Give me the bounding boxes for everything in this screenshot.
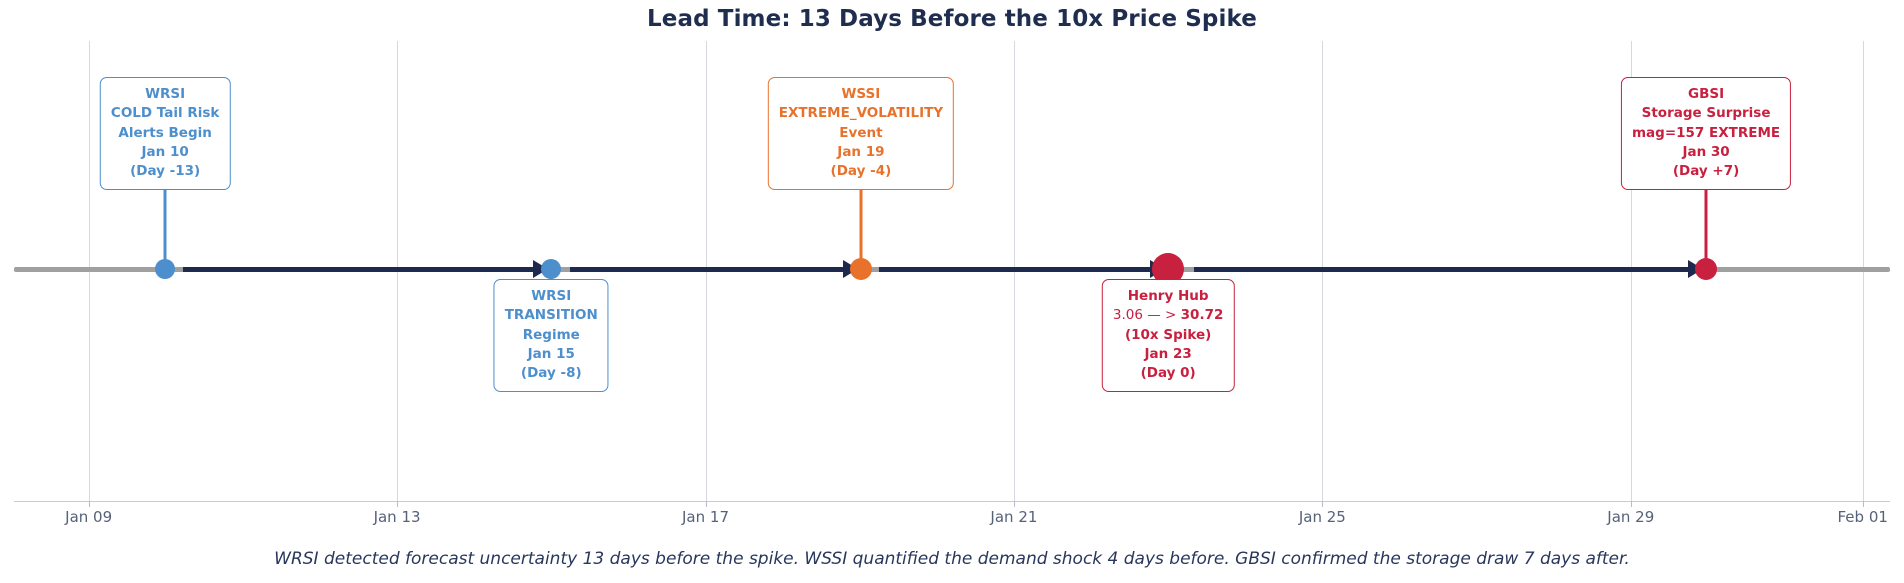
marker-wssi-extreme-volatility[interactable] bbox=[850, 258, 872, 280]
annotation-line-4: Jan 15 bbox=[505, 345, 598, 364]
arrow-segment-2 bbox=[570, 267, 844, 272]
tick-mark bbox=[1014, 501, 1015, 507]
annotation-line-4: Jan 19 bbox=[779, 143, 943, 162]
x-axis-line bbox=[14, 501, 1890, 502]
tick-label-1: Jan 09 bbox=[65, 508, 112, 526]
annotation-line-1: GBSI bbox=[1632, 85, 1780, 104]
annotation-line-5: (Day -8) bbox=[505, 364, 598, 383]
tick-mark bbox=[1863, 501, 1864, 507]
annotation-line-1: Henry Hub bbox=[1113, 287, 1223, 306]
arrow-segment-1 bbox=[183, 267, 534, 272]
tick-label-5: Jan 25 bbox=[1299, 508, 1346, 526]
annotation-line-2: COLD Tail Risk bbox=[111, 104, 219, 123]
tick-label-6: Jan 29 bbox=[1607, 508, 1654, 526]
annotation-henry-hub-price-spike[interactable]: Henry Hub3.06 — > 30.72(10x Spike)Jan 23… bbox=[1102, 279, 1234, 392]
tick-mark bbox=[397, 501, 398, 507]
annotation-price-change: 3.06 — > 30.72 bbox=[1113, 306, 1223, 325]
annotation-line-5: (Day 0) bbox=[1113, 364, 1223, 383]
stem-wrsi-cold-tail-risk bbox=[164, 190, 167, 263]
annotation-line-3: mag=157 EXTREME bbox=[1632, 124, 1780, 143]
annotation-line-1: WRSI bbox=[505, 287, 598, 306]
annotation-line-5: (Day -4) bbox=[779, 162, 943, 181]
annotation-line-5: (Day -13) bbox=[111, 162, 219, 181]
annotation-line-2: TRANSITION bbox=[505, 306, 598, 325]
tick-mark bbox=[1322, 501, 1323, 507]
chart-caption: WRSI detected forecast uncertainty 13 da… bbox=[0, 549, 1904, 569]
annotation-line-4: Jan 10 bbox=[111, 143, 219, 162]
arrow-segment-3 bbox=[879, 267, 1151, 272]
stem-gbsi-storage-surprise bbox=[1705, 190, 1708, 262]
annotation-wrsi-transition-regime[interactable]: WRSITRANSITIONRegimeJan 15(Day -8) bbox=[494, 279, 609, 392]
tick-label-7: Feb 01 bbox=[1837, 508, 1887, 526]
annotation-line-3: Alerts Begin bbox=[111, 124, 219, 143]
tick-label-4: Jan 21 bbox=[990, 508, 1037, 526]
annotation-line-3: Event bbox=[779, 124, 943, 143]
tick-mark bbox=[1631, 501, 1632, 507]
tick-label-2: Jan 13 bbox=[374, 508, 421, 526]
annotation-line-5: (Day +7) bbox=[1632, 162, 1780, 181]
arrow-segment-4 bbox=[1194, 267, 1689, 272]
marker-gbsi-storage-surprise[interactable] bbox=[1695, 258, 1717, 280]
annotation-line-2: Storage Surprise bbox=[1632, 104, 1780, 123]
tick-mark bbox=[706, 501, 707, 507]
stem-wssi-extreme-volatility bbox=[859, 190, 862, 262]
marker-wrsi-cold-tail-risk[interactable] bbox=[155, 259, 175, 279]
annotation-line-1: WRSI bbox=[111, 85, 219, 104]
tick-label-3: Jan 17 bbox=[682, 508, 729, 526]
timeline-chart: Lead Time: 13 Days Before the 10x Price … bbox=[0, 0, 1904, 583]
annotation-line-4: Jan 23 bbox=[1113, 345, 1223, 364]
marker-wrsi-transition-regime[interactable] bbox=[541, 259, 561, 279]
annotation-line-3: (10x Spike) bbox=[1113, 326, 1223, 345]
annotation-gbsi-storage-surprise[interactable]: GBSIStorage Surprisemag=157 EXTREMEJan 3… bbox=[1621, 77, 1791, 190]
annotation-line-3: Regime bbox=[505, 326, 598, 345]
annotation-line-1: WSSI bbox=[779, 85, 943, 104]
chart-title: Lead Time: 13 Days Before the 10x Price … bbox=[0, 6, 1904, 32]
annotation-line-4: Jan 30 bbox=[1632, 143, 1780, 162]
annotation-line-2: EXTREME_VOLATILITY bbox=[779, 104, 943, 123]
annotation-wrsi-cold-tail-risk[interactable]: WRSICOLD Tail RiskAlerts BeginJan 10(Day… bbox=[100, 77, 230, 190]
tick-mark bbox=[89, 501, 90, 507]
annotation-wssi-extreme-volatility[interactable]: WSSIEXTREME_VOLATILITYEventJan 19(Day -4… bbox=[768, 77, 954, 190]
